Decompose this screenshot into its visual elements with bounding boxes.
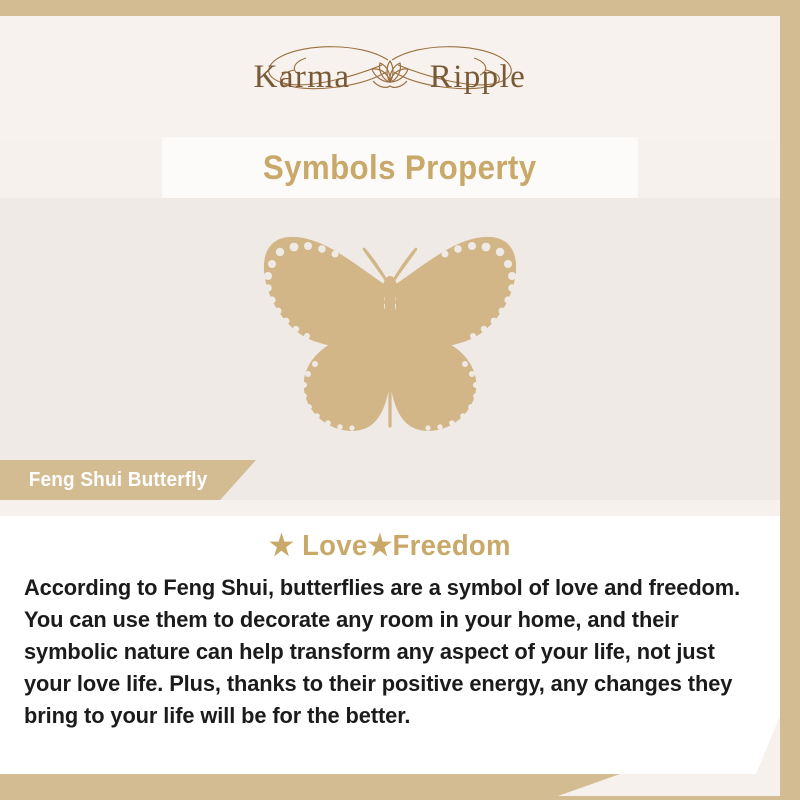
divider-strip — [0, 500, 780, 516]
frame-right-border — [780, 0, 800, 800]
brand-logo-svg: Karma Ripple — [210, 40, 570, 118]
content-headline: ★ Love★Freedom — [20, 528, 761, 563]
page-title: Symbols Property — [263, 149, 537, 188]
brand-logo: Karma Ripple — [210, 40, 570, 118]
status-badge: Feng Shui Butterfly — [0, 460, 256, 500]
logo-zone: Karma Ripple — [0, 16, 780, 138]
butterfly-svg — [210, 224, 570, 434]
poster-root: Karma Ripple Symbols Property — [0, 0, 800, 800]
title-banner: Symbols Property — [163, 138, 637, 198]
ribbon-row: Feng Shui Butterfly — [0, 460, 780, 500]
brand-word-left: Karma — [254, 59, 351, 95]
brand-word-right: Ripple — [430, 59, 526, 95]
poster-canvas: Karma Ripple Symbols Property — [0, 16, 780, 780]
bottom-sweep — [0, 774, 780, 796]
content-panel: ★ Love★Freedom According to Feng Shui, b… — [0, 516, 780, 774]
content-body: According to Feng Shui, butterflies are … — [24, 572, 767, 732]
bottom-sweep-accent — [0, 774, 620, 796]
illustration-zone — [0, 198, 780, 460]
frame-top-border — [0, 0, 800, 16]
ribbon-label: Feng Shui Butterfly — [29, 469, 208, 492]
lotus-icon — [372, 61, 408, 87]
butterfly-icon — [210, 224, 570, 434]
